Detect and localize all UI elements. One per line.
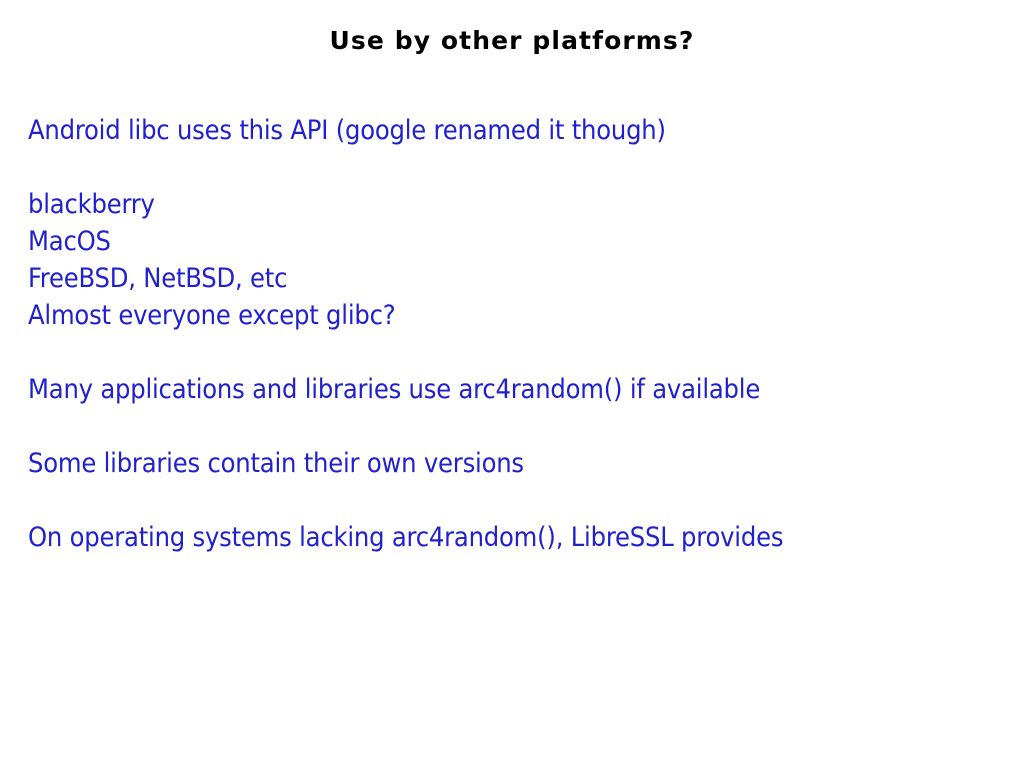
slide-body: Android libc uses this API (google renam… bbox=[28, 112, 988, 556]
slide-title: Use by other platforms? bbox=[0, 26, 1024, 56]
body-line-spacer-4 bbox=[28, 482, 988, 519]
body-line-blackberry: blackberry bbox=[28, 186, 988, 223]
body-line-bsd: FreeBSD, NetBSD, etc bbox=[28, 260, 988, 297]
presentation-slide: Use by other platforms? Android libc use… bbox=[0, 0, 1024, 768]
body-line-libressl: On operating systems lacking arc4random(… bbox=[28, 519, 988, 556]
body-line-spacer-2 bbox=[28, 334, 988, 371]
body-line-some-libraries: Some libraries contain their own version… bbox=[28, 445, 988, 482]
body-line-spacer-3 bbox=[28, 408, 988, 445]
body-line-almost-everyone: Almost everyone except glibc? bbox=[28, 297, 988, 334]
body-line-many-applications: Many applications and libraries use arc4… bbox=[28, 371, 988, 408]
body-line-android: Android libc uses this API (google renam… bbox=[28, 112, 988, 149]
body-line-macos: MacOS bbox=[28, 223, 988, 260]
body-line-spacer-1 bbox=[28, 149, 988, 186]
